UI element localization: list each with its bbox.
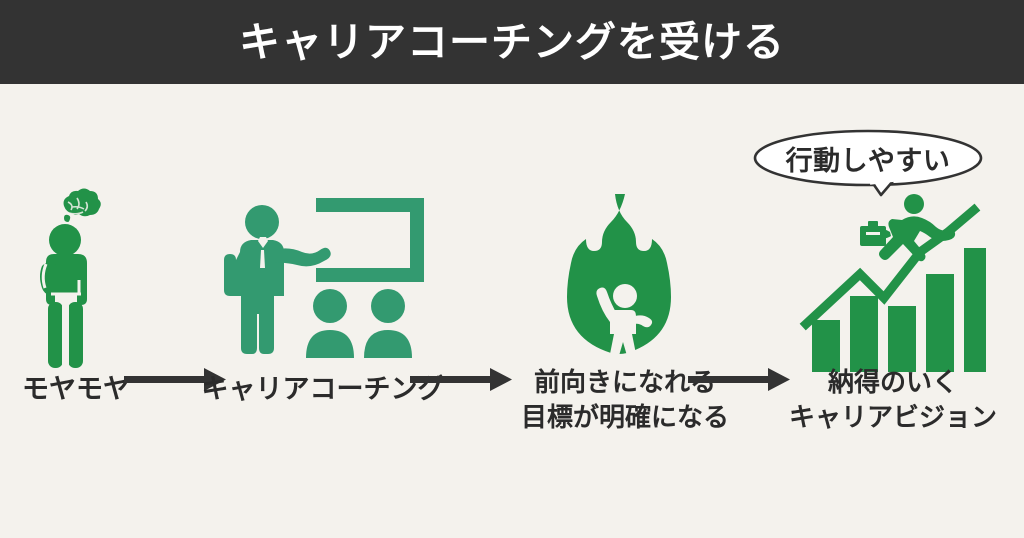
coaching-presentation-icon [208, 186, 438, 376]
page-title: キャリアコーチングを受ける [239, 22, 785, 63]
flow-step-2: キャリアコーチング [178, 84, 468, 538]
step-1-art [0, 176, 152, 376]
person-pondering-icon [16, 186, 136, 376]
step-2-art [178, 176, 468, 376]
leg-left-shape [48, 302, 63, 368]
running-businessman-shape [860, 194, 955, 261]
flow-step-1: モヤモヤ [0, 84, 152, 538]
presenter-head-shape [245, 205, 279, 239]
whiteboard-shape [316, 198, 424, 282]
head-shape [49, 224, 81, 256]
bar-chart-shape [812, 248, 986, 372]
thought-cloud-icon [60, 189, 101, 231]
audience-left-shape [306, 289, 354, 358]
step-4-art [762, 176, 1024, 376]
audience-right-shape [364, 289, 412, 358]
step-4-label: 納得のいく キャリアビジョン [762, 366, 1024, 437]
callout-bubble: 行動しやすい [752, 128, 984, 196]
header-bar: キャリアコーチングを受ける [0, 0, 1024, 84]
growth-chart-runner-icon [798, 196, 988, 376]
flame-motivation-icon [555, 190, 695, 376]
step-3-art [490, 176, 760, 376]
flow-step-3: 前向きになれる 目標が明確になる [490, 84, 760, 538]
infographic-canvas: キャリアコーチングを受ける [0, 0, 1024, 538]
leg-right-shape [68, 302, 83, 368]
callout-bubble-text: 行動しやすい [752, 128, 984, 188]
